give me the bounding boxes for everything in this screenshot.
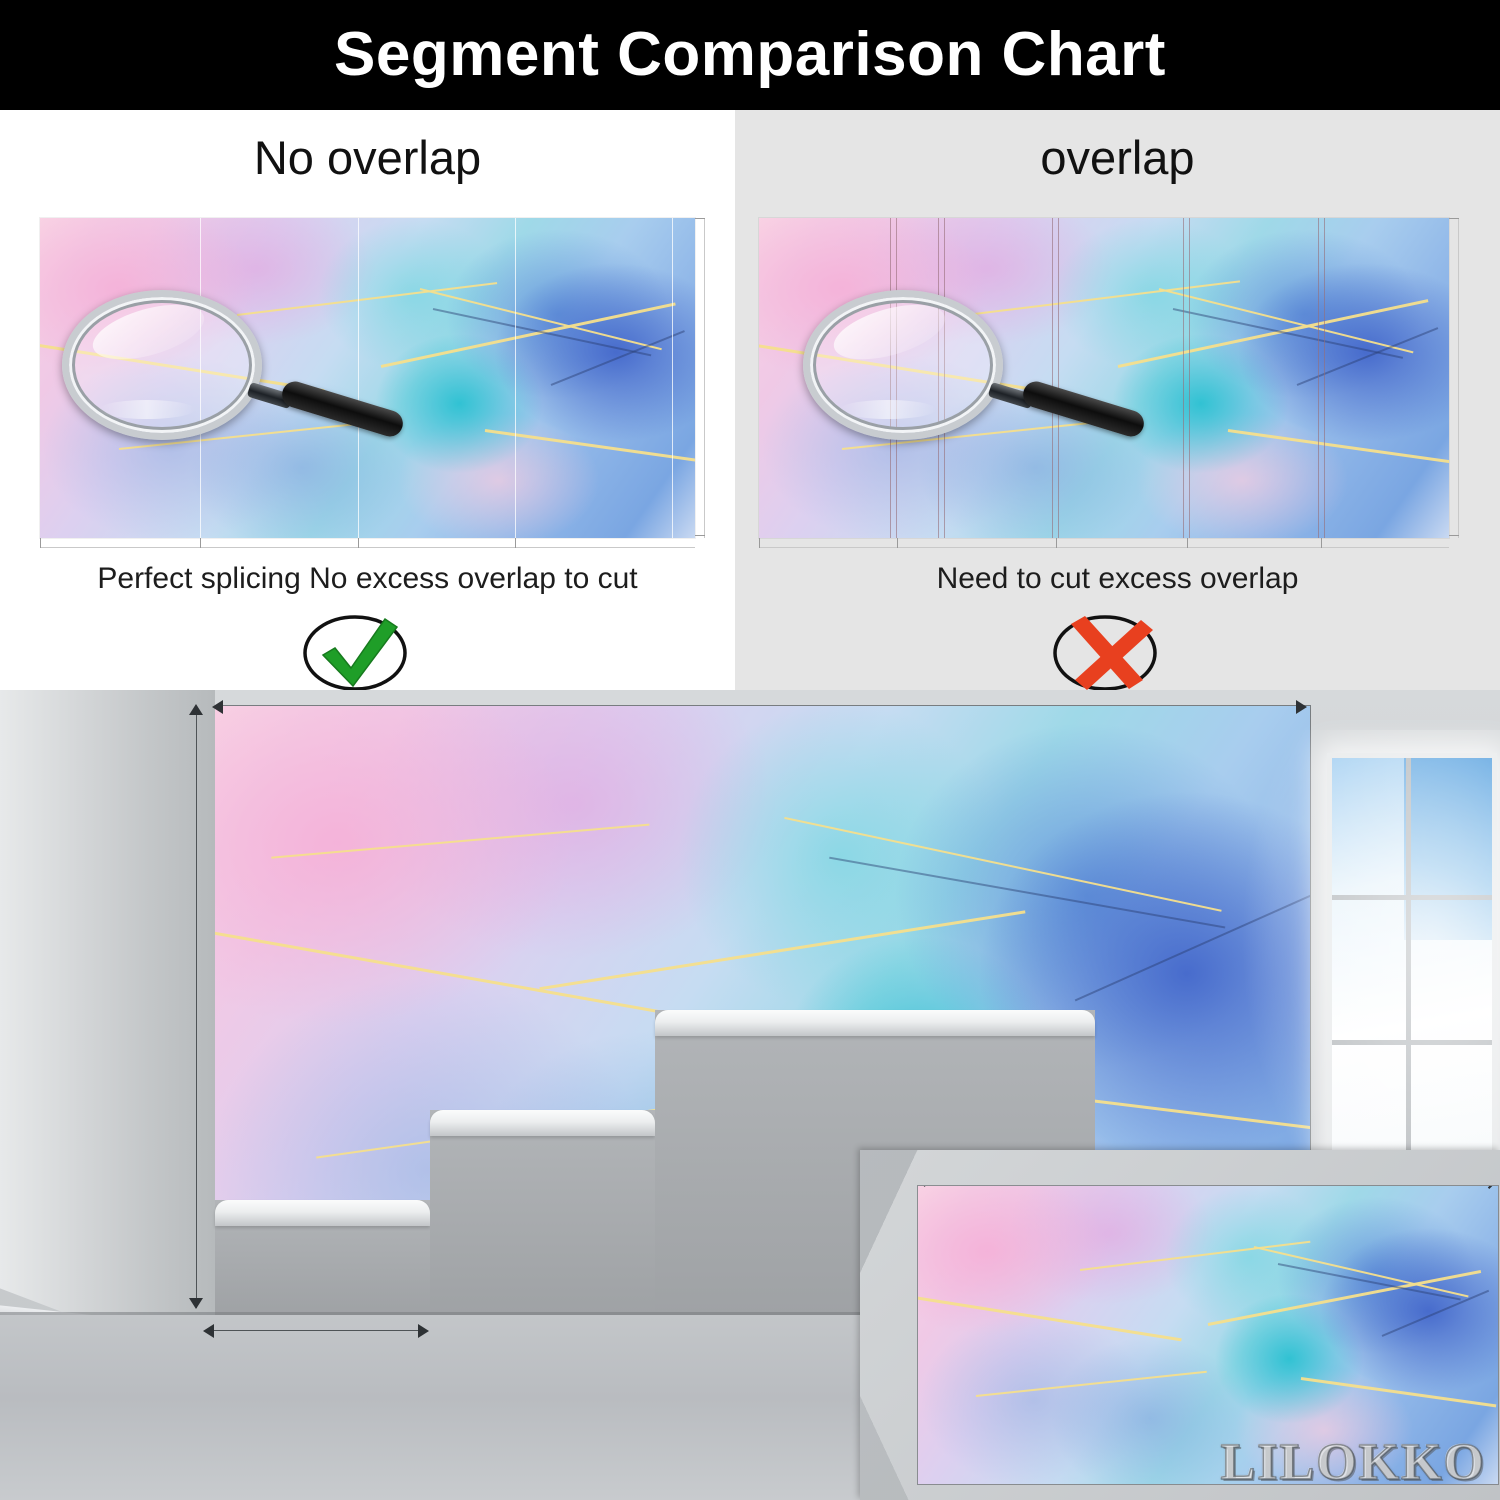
window-mullion: [1406, 758, 1411, 1213]
tick-mark: [515, 538, 516, 548]
height-arrow-bottom: [189, 1298, 203, 1309]
caption-overlap: Need to cut excess overlap: [735, 562, 1500, 596]
seam-line: [515, 218, 516, 538]
tick-mark: [695, 218, 705, 219]
seam-line: [200, 218, 201, 538]
overlap-seam-pair: [890, 218, 897, 538]
measure-rail-bottom: [40, 547, 695, 548]
height-dimension-line: [196, 708, 197, 1308]
panel-heading-overlap: overlap: [735, 130, 1500, 185]
seam-line: [672, 218, 673, 538]
sample-image-overlap: [759, 218, 1449, 538]
tick-mark: [1449, 535, 1459, 536]
brand-watermark: LILOKKO: [1221, 1433, 1486, 1492]
comparison-strip: No overlap: [0, 110, 1500, 690]
tick-mark: [759, 538, 760, 548]
marble-artwork: [759, 218, 1449, 538]
tick-mark: [358, 538, 359, 548]
window-icon: [1332, 758, 1492, 1213]
full-mural-preview: LILOKKO: [860, 1150, 1500, 1500]
panel-overlap: overlap: [735, 110, 1500, 690]
panel-heading-no-overlap: No overlap: [0, 130, 735, 185]
measure-rail-right: [704, 218, 705, 538]
window-sky: [1404, 758, 1492, 940]
marble-artwork: [40, 218, 695, 538]
measure-rail-bottom: [759, 547, 1449, 548]
tick-mark: [1187, 538, 1188, 548]
window-mullion: [1332, 895, 1492, 900]
title-bar: Segment Comparison Chart: [0, 0, 1500, 110]
page-title: Segment Comparison Chart: [334, 24, 1166, 86]
tick-mark: [1449, 218, 1459, 219]
caption-no-overlap: Perfect splicing No excess overlap to cu…: [0, 562, 735, 596]
tick-mark: [1056, 538, 1057, 548]
tick-mark: [695, 535, 705, 536]
tick-mark: [897, 538, 898, 548]
overlap-seam-pair: [938, 218, 945, 538]
panel-no-overlap: No overlap: [0, 110, 735, 690]
tick-mark: [40, 538, 41, 548]
green-check-icon: [293, 610, 443, 696]
overlap-seam-pair: [1318, 218, 1325, 538]
stair-step: [215, 1200, 430, 1315]
width-arrow-right: [418, 1324, 429, 1338]
sample-image-no-overlap: [40, 218, 695, 538]
width-dimension-line: [210, 1330, 425, 1331]
tick-mark: [200, 538, 201, 548]
tick-mark: [1321, 538, 1322, 548]
mural-top-arrow-right: [1296, 700, 1307, 714]
left-side-wall: [0, 690, 215, 1370]
seam-line: [358, 218, 359, 538]
room-scene: LILOKKO: [0, 690, 1500, 1500]
width-arrow-left: [203, 1324, 214, 1338]
mural-top-arrow-left: [212, 700, 223, 714]
window-mullion: [1332, 1040, 1492, 1045]
height-arrow-top: [189, 704, 203, 715]
overlap-seam-pair: [1052, 218, 1059, 538]
measure-rail-right: [1458, 218, 1459, 538]
stair-step: [430, 1110, 655, 1315]
overlap-seam-pair: [1183, 218, 1190, 538]
red-cross-icon: [1043, 610, 1193, 696]
